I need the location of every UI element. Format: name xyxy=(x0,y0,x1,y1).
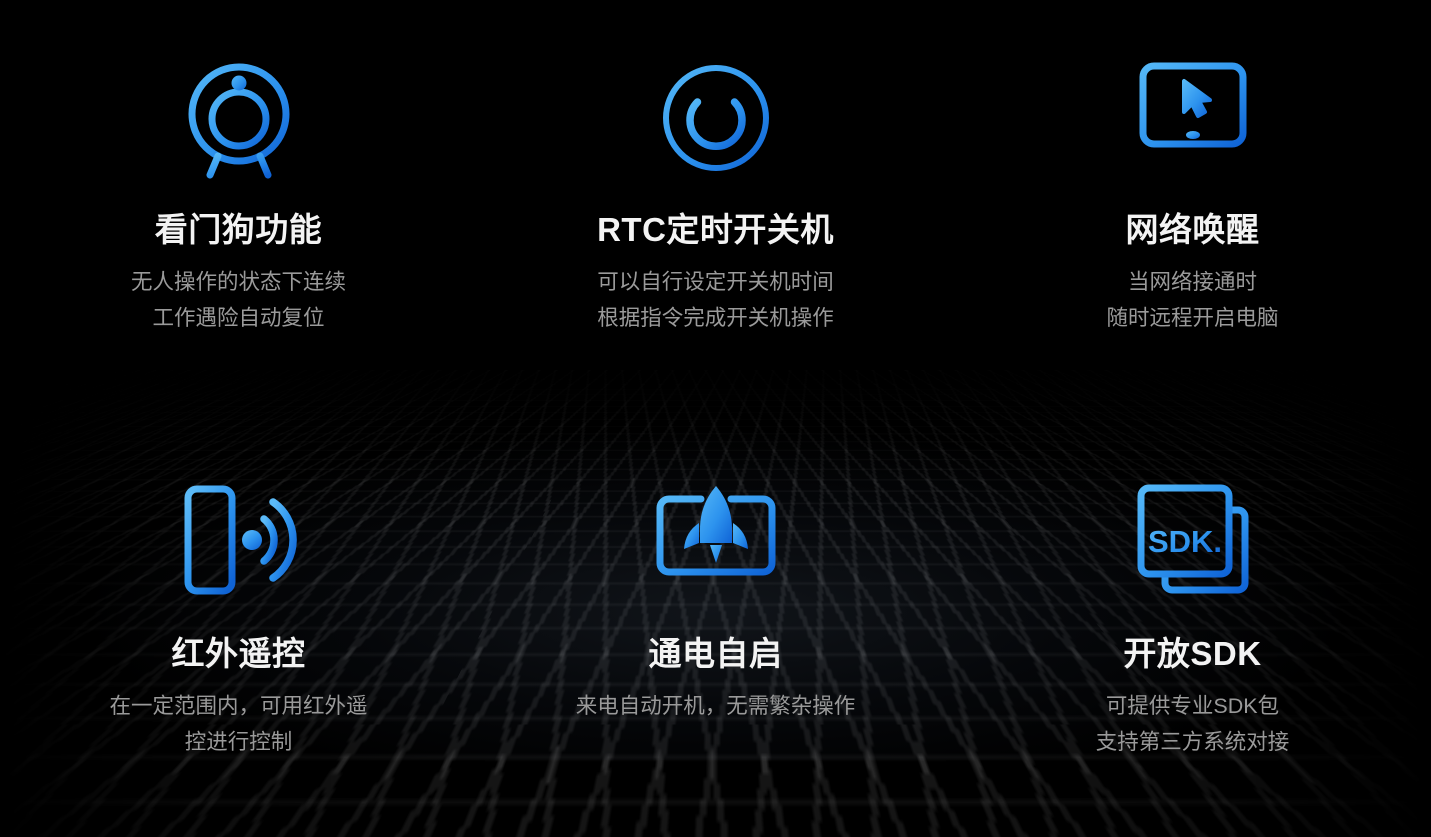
feature-icon-wrap xyxy=(652,480,780,600)
feature-card-watchdog[interactable]: 看门狗功能 无人操作的状态下连续 工作遇险自动复位 xyxy=(0,0,477,418)
sdk-windows-icon: SDK. xyxy=(1137,484,1249,596)
feature-title: RTC定时开关机 xyxy=(597,212,834,248)
feature-card-wake-on-lan[interactable]: 网络唤醒 当网络接通时 随时远程开启电脑 xyxy=(954,0,1431,418)
feature-grid: 看门狗功能 无人操作的状态下连续 工作遇险自动复位 RTC定时开关机 可以自行设… xyxy=(0,0,1431,837)
feature-title: 网络唤醒 xyxy=(1126,212,1260,248)
feature-subtitle: 可以自行设定开关机时间 根据指令完成开关机操作 xyxy=(597,264,834,336)
monitor-rocket-icon xyxy=(652,481,780,599)
feature-subtitle: 当网络接通时 随时远程开启电脑 xyxy=(1106,264,1278,336)
monitor-cursor-icon xyxy=(1139,62,1247,174)
sdk-icon-label: SDK. xyxy=(1147,524,1221,559)
power-button-icon xyxy=(660,62,772,174)
feature-card-open-sdk[interactable]: SDK. 开放SDK 可提供专业SDK包 支持第三方系统对接 xyxy=(954,418,1431,837)
feature-subtitle: 来电自动开机，无需繁杂操作 xyxy=(576,688,856,724)
feature-icon-wrap xyxy=(1139,58,1247,178)
feature-title: 看门狗功能 xyxy=(155,212,323,248)
feature-icon-wrap: SDK. xyxy=(1137,480,1249,600)
remote-control-signal-icon xyxy=(183,485,295,595)
feature-subtitle: 可提供专业SDK包 支持第三方系统对接 xyxy=(1096,688,1290,760)
feature-icon-wrap xyxy=(183,480,295,600)
feature-title: 开放SDK xyxy=(1123,636,1261,672)
feature-card-rtc-power[interactable]: RTC定时开关机 可以自行设定开关机时间 根据指令完成开关机操作 xyxy=(477,0,954,418)
feature-card-infrared-remote[interactable]: 红外遥控 在一定范围内，可用红外遥 控进行控制 xyxy=(0,418,477,837)
feature-card-auto-power-on[interactable]: 通电自启 来电自动开机，无需繁杂操作 xyxy=(477,418,954,837)
feature-subtitle: 无人操作的状态下连续 工作遇险自动复位 xyxy=(131,264,346,336)
feature-subtitle: 在一定范围内，可用红外遥 控进行控制 xyxy=(109,688,367,760)
feature-title: 通电自启 xyxy=(649,636,783,672)
feature-icon-wrap xyxy=(180,58,298,178)
webcam-watchdog-icon xyxy=(180,58,298,178)
feature-title: 红外遥控 xyxy=(172,636,306,672)
feature-icon-wrap xyxy=(660,58,772,178)
